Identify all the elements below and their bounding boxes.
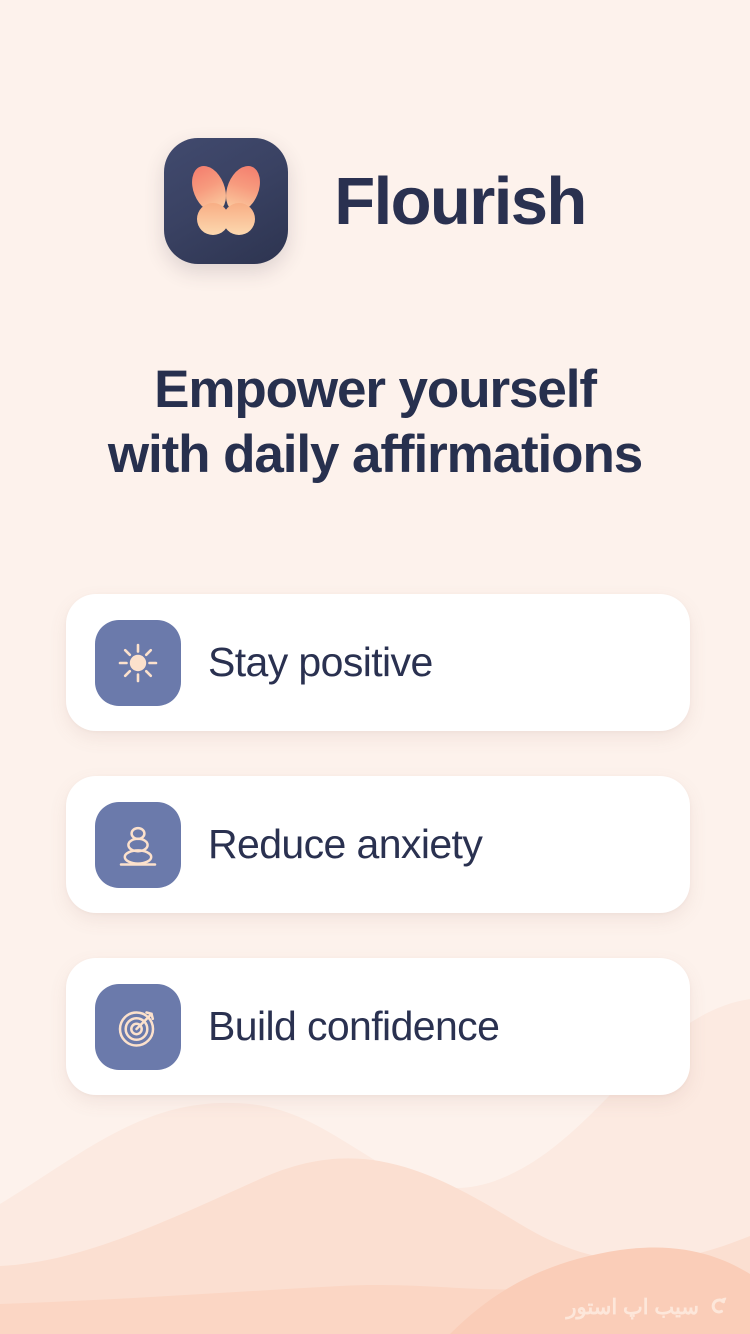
sun-icon bbox=[113, 638, 163, 688]
feature-label: Stay positive bbox=[208, 642, 433, 683]
page-title: Empower yourself with daily affirmations bbox=[0, 358, 750, 487]
app-icon-tile bbox=[164, 138, 288, 264]
app-name: Flourish bbox=[334, 168, 585, 235]
feature-icon-tile bbox=[95, 984, 181, 1070]
onboarding-screen: Flourish Empower yourself with daily aff… bbox=[0, 0, 750, 1334]
feature-label: Reduce anxiety bbox=[208, 824, 482, 865]
headline-line-2: with daily affirmations bbox=[0, 423, 750, 488]
headline-line-1: Empower yourself bbox=[0, 358, 750, 423]
feature-card-build-confidence[interactable]: Build confidence bbox=[66, 958, 690, 1095]
feature-icon-tile bbox=[95, 802, 181, 888]
feature-label: Build confidence bbox=[208, 1006, 499, 1047]
target-icon bbox=[113, 1002, 163, 1052]
feature-card-stay-positive[interactable]: Stay positive bbox=[66, 594, 690, 731]
feature-list: Stay positive Reduce anxiety bbox=[66, 594, 690, 1095]
feature-icon-tile bbox=[95, 620, 181, 706]
zen-stones-icon bbox=[113, 820, 163, 870]
brand-header: Flourish bbox=[0, 138, 750, 264]
feature-card-reduce-anxiety[interactable]: Reduce anxiety bbox=[66, 776, 690, 913]
butterfly-icon bbox=[187, 161, 265, 241]
